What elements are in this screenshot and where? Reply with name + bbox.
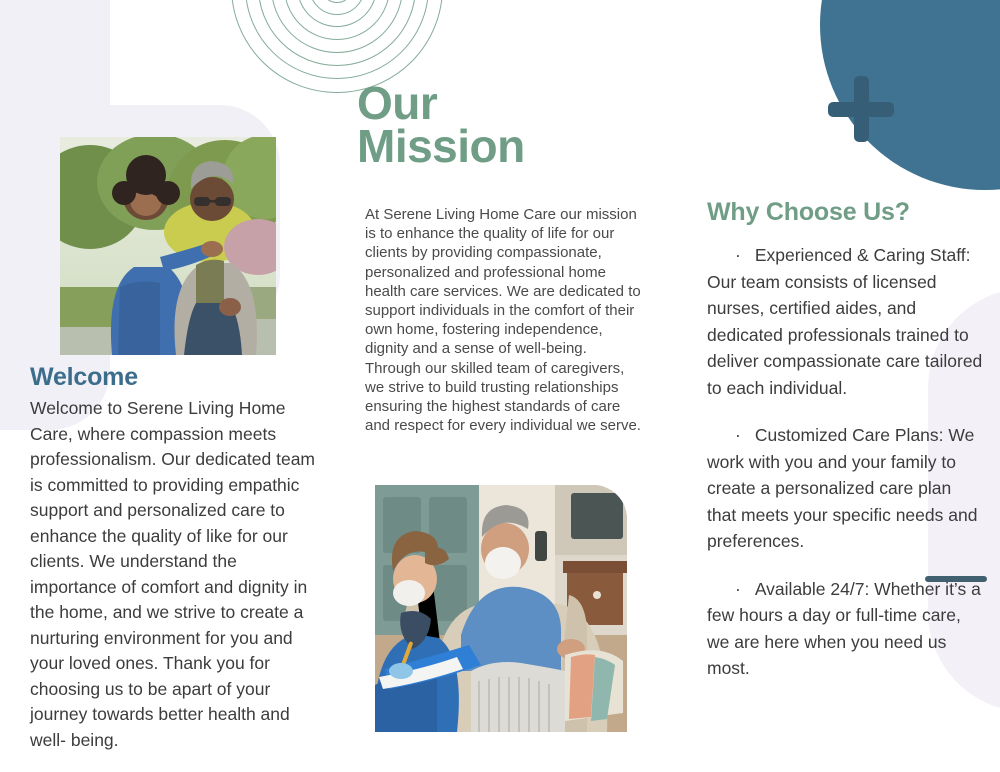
plus-icon-horizontal-bar bbox=[828, 102, 894, 117]
plus-icon bbox=[828, 76, 894, 142]
why-choose-us-bullet-list: ·Experienced & Caring Staff: Our team co… bbox=[707, 242, 985, 703]
welcome-body-text: Welcome to Serene Living Home Care, wher… bbox=[30, 396, 326, 753]
bullet-marker: · bbox=[735, 425, 755, 445]
photo-caregiver-and-senior-outdoors bbox=[60, 137, 276, 355]
mission-body-text: At Serene Living Home Care our mission i… bbox=[365, 205, 643, 435]
list-item: ·Available 24/7: Whether it’s a few hour… bbox=[707, 576, 985, 682]
photo-nurse-with-seated-patient bbox=[375, 485, 627, 732]
plus-icon-vertical-bar bbox=[854, 76, 869, 142]
mission-heading: Our Mission bbox=[357, 82, 607, 168]
why-choose-us-heading: Why Choose Us? bbox=[707, 198, 910, 227]
teal-circle-decoration bbox=[820, 0, 1000, 190]
bullet-marker: · bbox=[735, 245, 755, 265]
list-item: ·Customized Care Plans: We work with you… bbox=[707, 422, 985, 555]
accent-rule-divider bbox=[925, 576, 987, 582]
bullet-marker: · bbox=[735, 579, 755, 599]
list-item-text: Experienced & Caring Staff: Our team con… bbox=[707, 245, 982, 398]
welcome-heading: Welcome bbox=[30, 363, 138, 392]
list-item: ·Experienced & Caring Staff: Our team co… bbox=[707, 242, 985, 401]
brochure-page: Welcome Welcome to Serene Living Home Ca… bbox=[0, 0, 1000, 772]
